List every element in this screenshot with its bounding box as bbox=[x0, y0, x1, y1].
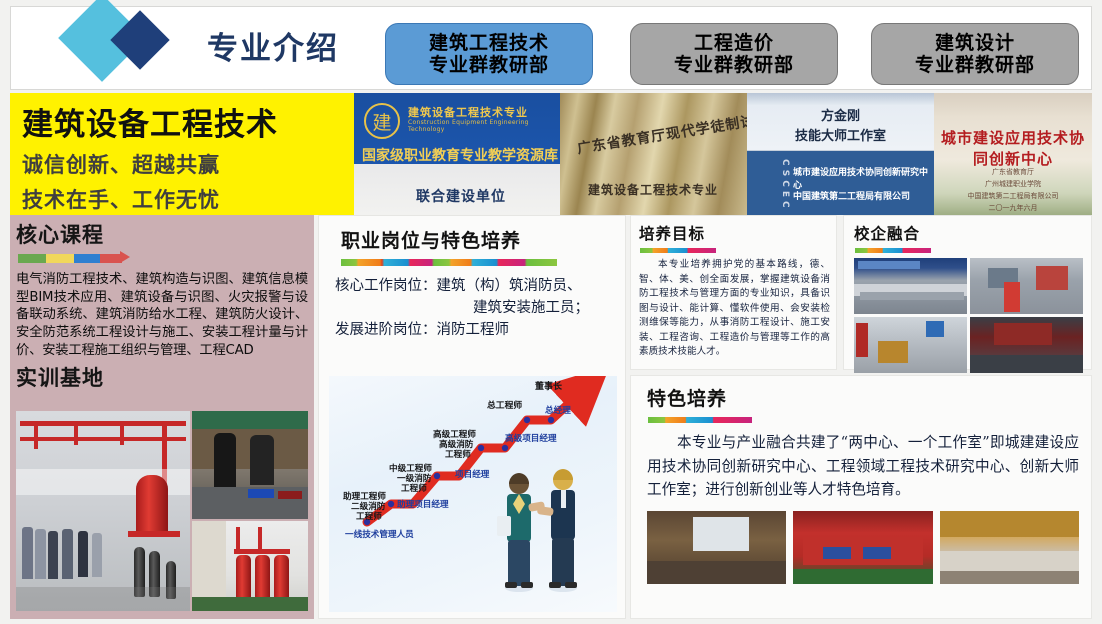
ladder-label-assistant-pm: 助理项目经理 bbox=[397, 498, 449, 510]
brass-line-1: 广东省教育厅现代学徒制试点 bbox=[576, 108, 772, 158]
major-name: 建筑设备工程技术 bbox=[22, 99, 354, 144]
rainbow-divider-small-icon bbox=[640, 248, 716, 253]
feature-training-title: 特色培养 bbox=[647, 384, 1079, 411]
photo-pipe-workshop bbox=[192, 411, 308, 519]
content-area: 核心课程 电气消防工程技术、建筑构造与识图、建筑信息模型BIM技术应用、建筑设备… bbox=[10, 215, 1092, 619]
photo-group-photo bbox=[940, 511, 1079, 584]
feature-photo-row bbox=[647, 511, 1079, 584]
photo-meeting-room bbox=[854, 258, 967, 314]
panel-feature-training: 特色培养 本专业与产业融合共建了“两中心、一个工作室”即城建建设应用技术协同创新… bbox=[630, 375, 1092, 619]
tab-construction-engineering[interactable]: 建筑工程技术 专业群教研部 bbox=[385, 23, 593, 85]
banner-strip: 建筑设备工程技术 诚信创新、超越共赢 技术在手、工作无忧 建 建筑设备工程技术专… bbox=[10, 93, 1092, 215]
slogan-line-2: 技术在手、工作无忧 bbox=[22, 184, 354, 214]
photo-conference bbox=[970, 317, 1083, 373]
tab-label-line1: 建筑设计 bbox=[935, 32, 1015, 54]
banner-yellow-title: 建筑设备工程技术 诚信创新、超越共赢 技术在手、工作无忧 bbox=[10, 93, 354, 215]
tab-label-line1: 建筑工程技术 bbox=[429, 32, 549, 54]
certificate-line-1: 广东省教育厅 bbox=[934, 167, 1092, 177]
photo-studio-plate: 方金刚 技能大师工作室 CSCEC 城市建设应用技术协同创新研究中心 中国建筑第… bbox=[747, 93, 934, 215]
rainbow-divider-small-icon bbox=[855, 248, 931, 253]
photo-blue-plaque: 建 建筑设备工程技术专业 Construction Equipment Engi… bbox=[354, 93, 560, 215]
school-enterprise-title: 校企融合 bbox=[854, 222, 1083, 244]
studio-label: 技能大师工作室 bbox=[747, 125, 934, 144]
slide-root: 专业介绍 建筑工程技术 专业群教研部 工程造价 专业群教研部 建筑设计 专业群教… bbox=[0, 0, 1102, 624]
photo-flag-ceremony bbox=[970, 258, 1083, 314]
photo-pump-room bbox=[16, 411, 190, 611]
ladder-label-senior-pm: 高级项目经理 bbox=[505, 432, 557, 444]
certificate-title: 城市建设应用技术协同创新中心 bbox=[934, 127, 1092, 169]
page-title: 专业介绍 bbox=[207, 23, 339, 68]
plaque-en-label: Construction Equipment Engineering Techn… bbox=[408, 119, 560, 133]
brass-line-2: 建筑设备工程技术专业 bbox=[588, 181, 718, 198]
ladder-label-engineer-1: 工程师 bbox=[356, 510, 382, 522]
tab-cost-estimation[interactable]: 工程造价 专业群教研部 bbox=[630, 23, 838, 85]
ladder-label-engineer-2: 工程师 bbox=[401, 482, 427, 494]
photo-red-carpet-ceremony bbox=[793, 511, 932, 584]
certificate-line-4: 二〇一九年六月 bbox=[934, 203, 1092, 213]
cscec-logo-icon: CSCEC bbox=[753, 159, 789, 203]
rainbow-divider-icon bbox=[341, 259, 557, 266]
master-name: 方金刚 bbox=[747, 105, 934, 124]
tab-label-line1: 工程造价 bbox=[694, 32, 774, 54]
tab-label-line2: 专业群教研部 bbox=[915, 54, 1035, 76]
org-line-1: 城市建设应用技术协同创新研究中心 bbox=[793, 165, 934, 191]
core-courses-title: 核心课程 bbox=[16, 219, 308, 249]
training-goal-title: 培养目标 bbox=[639, 222, 830, 244]
training-base-title: 实训基地 bbox=[16, 362, 308, 392]
photo-seminar-library bbox=[647, 511, 786, 584]
ladder-label-frontline-tech: 一线技术管理人员 bbox=[345, 528, 414, 540]
career-section-title: 职业岗位与特色培养 bbox=[341, 226, 625, 253]
photo-plaque-unveiling bbox=[854, 317, 967, 373]
ladder-label-chief-engineer: 总工程师 bbox=[487, 398, 522, 411]
org-line-2: 中国建筑第二工程局有限公司 bbox=[793, 189, 910, 202]
panel-school-enterprise: 校企融合 bbox=[843, 215, 1092, 370]
photo-certificate: 城市建设应用技术协同创新中心 广东省教育厅 广州城建职业学院 中国建筑第二工程局… bbox=[934, 93, 1092, 215]
tab-architectural-design[interactable]: 建筑设计 专业群教研部 bbox=[871, 23, 1079, 85]
school-enterprise-photo-grid bbox=[854, 258, 1083, 373]
advanced-job-line: 发展进阶岗位：消防工程师 bbox=[335, 322, 509, 338]
ladder-label-chairman: 董事长 bbox=[535, 379, 562, 392]
feature-training-text: 本专业与产业融合共建了“两中心、一个工作室”即城建建设应用技术协同创新研究中心、… bbox=[647, 431, 1079, 502]
career-ladder-diagram: 助理工程师 二级消防 工程师 中级工程师 一级消防 工程师 高级工程师 高级消防… bbox=[329, 376, 617, 612]
training-goal-text: 本专业培养拥护党的基本路线，德、智、体、美、创全面发展，掌握建筑设备消防工程技术… bbox=[639, 258, 830, 360]
tab-label-line2: 专业群教研部 bbox=[674, 54, 794, 76]
core-job-line-1: 核心工作岗位：建筑（构）筑消防员、 bbox=[335, 278, 582, 294]
emblem-icon: 建 bbox=[364, 103, 400, 139]
ladder-label-project-manager: 项目经理 bbox=[455, 468, 489, 480]
double-diamond-logo bbox=[71, 5, 206, 97]
certificate-line-2: 广州城建职业学院 bbox=[934, 179, 1092, 189]
photo-gas-cylinders bbox=[192, 521, 308, 611]
panel-core-courses: 核心课程 电气消防工程技术、建筑构造与识图、建筑信息模型BIM技术应用、建筑设备… bbox=[10, 215, 314, 619]
rainbow-divider-medium-icon bbox=[648, 417, 752, 423]
core-job-line-2: 建筑安装施工员； bbox=[335, 298, 615, 320]
panel-career-positions: 职业岗位与特色培养 核心工作岗位：建筑（构）筑消防员、 建筑安装施工员； 发展进… bbox=[318, 215, 626, 619]
training-base-photos bbox=[16, 411, 308, 611]
certificate-line-3: 中国建筑第二工程局有限公司 bbox=[934, 191, 1092, 201]
ladder-label-engineer-3: 工程师 bbox=[445, 448, 471, 460]
panel-training-goal: 培养目标 本专业培养拥护党的基本路线，德、智、体、美、创全面发展，掌握建筑设备消… bbox=[630, 215, 837, 370]
plaque-footer: 联合建设单位 bbox=[416, 186, 506, 206]
plaque-cn-label: 建筑设备工程技术专业 bbox=[408, 104, 528, 120]
slogan-line-1: 诚信创新、超越共赢 bbox=[22, 149, 354, 179]
core-courses-text: 电气消防工程技术、建筑构造与识图、建筑信息模型BIM技术应用、建筑设备与识图、火… bbox=[16, 271, 308, 359]
plaque-headline: 国家级职业教育专业教学资源库 bbox=[362, 145, 558, 165]
arrow-divider-icon bbox=[18, 253, 128, 264]
photo-brass-plaque: 广东省教育厅现代学徒制试点 建筑设备工程技术专业 bbox=[560, 93, 747, 215]
tab-label-line2: 专业群教研部 bbox=[429, 54, 549, 76]
page-header: 专业介绍 建筑工程技术 专业群教研部 工程造价 专业群教研部 建筑设计 专业群教… bbox=[10, 6, 1092, 90]
ladder-label-general-manager: 总经理 bbox=[545, 404, 571, 416]
